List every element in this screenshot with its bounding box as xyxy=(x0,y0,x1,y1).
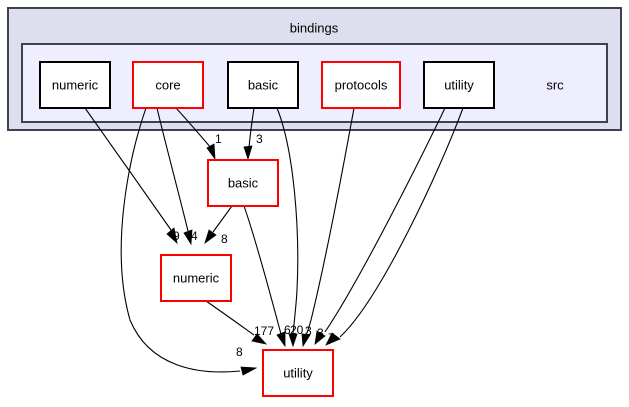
node-top-numeric-label: numeric xyxy=(52,77,99,92)
node-top-utility[interactable]: utility xyxy=(424,62,494,108)
node-mid-numeric[interactable]: numeric xyxy=(161,255,231,301)
node-bot-utility[interactable]: utility xyxy=(263,350,333,396)
node-mid-basic-label: basic xyxy=(228,175,259,190)
edge-label-9: 9 xyxy=(173,229,180,243)
node-bot-utility-label: utility xyxy=(283,365,313,380)
node-top-utility-label: utility xyxy=(444,77,474,92)
node-mid-basic[interactable]: basic xyxy=(208,160,278,206)
edge-label-7: 7 xyxy=(328,331,335,345)
node-top-basic[interactable]: basic xyxy=(228,62,298,108)
node-top-numeric[interactable]: numeric xyxy=(40,62,110,108)
edge-label-1: 1 xyxy=(215,132,222,146)
node-top-core-label: core xyxy=(155,77,180,92)
cluster-bindings-label: bindings xyxy=(290,20,339,35)
edge-label-8a: 8 xyxy=(221,232,228,246)
edge-label-4: 4 xyxy=(191,229,198,243)
edge-label-8b: 8 xyxy=(236,345,243,359)
edge-label-20: 20 xyxy=(290,323,304,337)
edge-label-177: 177 xyxy=(254,324,274,338)
node-top-protocols-label: protocols xyxy=(335,77,388,92)
edge-label-3a: 3 xyxy=(256,132,263,146)
edge-label-3b: 3 xyxy=(305,324,312,338)
node-top-protocols[interactable]: protocols xyxy=(322,62,400,108)
directory-dependency-graph: bindings src xyxy=(0,0,629,407)
node-top-core[interactable]: core xyxy=(133,62,203,108)
edge-label-3c: 3 xyxy=(317,326,324,340)
cluster-src-label: src xyxy=(546,77,564,92)
node-top-basic-label: basic xyxy=(248,77,279,92)
node-mid-numeric-label: numeric xyxy=(173,270,220,285)
